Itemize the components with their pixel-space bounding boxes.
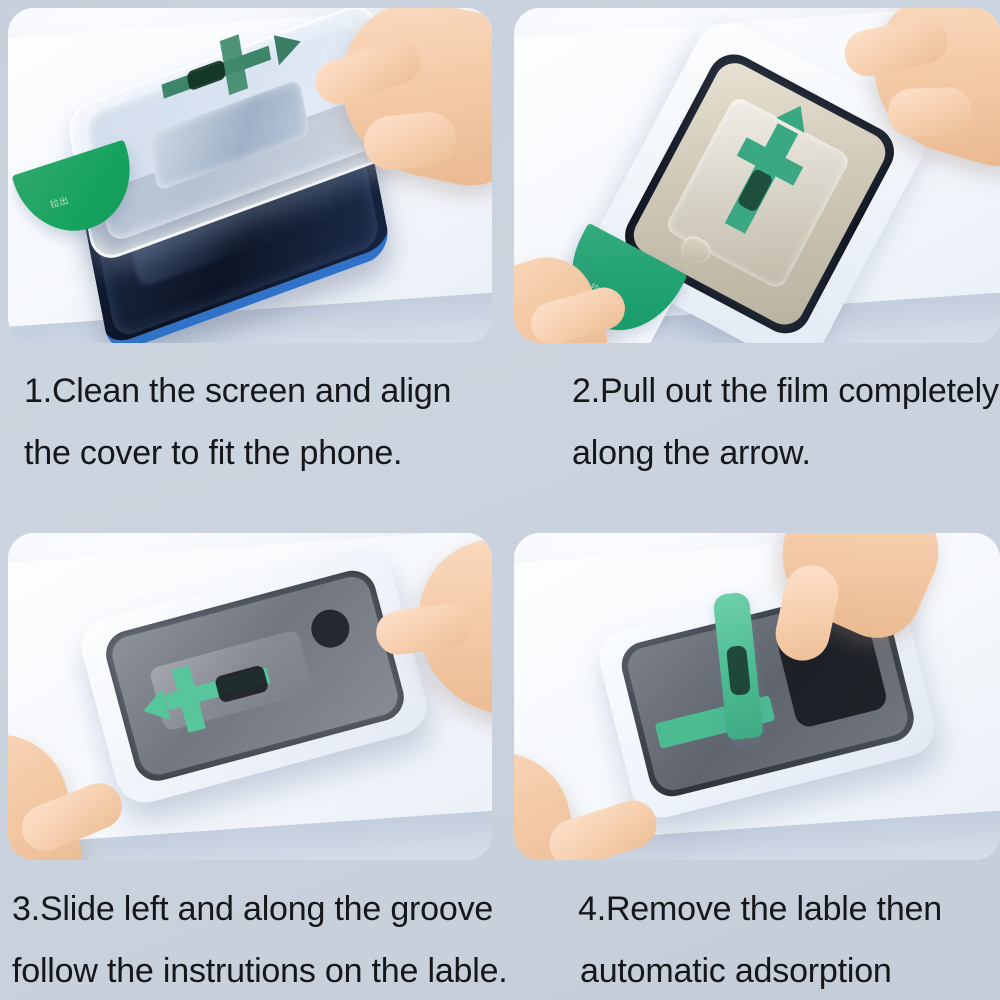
- step-3-caption: 3.Slide left and along the groove follow…: [8, 878, 496, 1000]
- step-4-scene: [514, 533, 1000, 860]
- caption-line: 2.Pull out the film completely: [572, 360, 1000, 422]
- step-1-scene: 拉出: [8, 8, 492, 343]
- instruction-step-4: 4.Remove the lable then automatic adsorp…: [514, 533, 1000, 1000]
- palm: [8, 720, 93, 860]
- caption-line: automatic adsorption: [578, 940, 1000, 1000]
- step-1-caption: 1.Clean the screen and align the cover t…: [8, 360, 508, 484]
- screen-dark-area: [773, 605, 889, 730]
- phone-device: [101, 565, 409, 786]
- applicator-tray: [75, 543, 433, 809]
- arrow-head-icon: [274, 26, 304, 65]
- phone-screen: [108, 573, 402, 779]
- step-4-photo: [514, 533, 1000, 860]
- step-4-caption: 4.Remove the lable then automatic adsorp…: [514, 878, 1000, 1000]
- phone-screen: [624, 590, 912, 795]
- pull-tab-label: 拉出: [588, 280, 610, 300]
- step-2-scene: 拉出: [514, 8, 1000, 343]
- green-arrow-film: [140, 641, 291, 743]
- arrow-chip: [726, 645, 751, 696]
- phone-device: [617, 582, 919, 801]
- instruction-step-3: 3.Slide left and along the groove follow…: [8, 533, 492, 1000]
- instruction-step-2: 拉出 2.Pull out the film completely along …: [514, 8, 1000, 508]
- step-3-scene: [8, 533, 492, 860]
- step-2-caption: 2.Pull out the film completely along the…: [514, 360, 1000, 484]
- pull-tab-label: 拉出: [49, 193, 71, 211]
- caption-line: follow the instrutions on the lable.: [12, 940, 496, 1000]
- instruction-step-1: 拉出 1.Clean the screen and align the cove…: [8, 8, 492, 508]
- caption-line: 3.Slide left and along the groove: [12, 878, 496, 940]
- arrow-chip: [214, 664, 269, 703]
- step-2-photo: 拉出: [514, 8, 1000, 343]
- thumb: [15, 776, 129, 858]
- step-1-photo: 拉出: [8, 8, 492, 343]
- step-3-photo: [8, 533, 492, 860]
- caption-line: the cover to fit the phone.: [24, 422, 508, 484]
- caption-line: 4.Remove the lable then: [578, 878, 1000, 940]
- applicator-tray: [593, 562, 940, 823]
- finger: [840, 14, 951, 81]
- camera-cutout: [307, 605, 354, 652]
- instruction-sheet: 拉出 1.Clean the screen and align the cove…: [0, 0, 1000, 1000]
- palm: [514, 740, 593, 860]
- arrow-chip: [186, 59, 226, 91]
- caption-line: 1.Clean the screen and align: [24, 360, 508, 422]
- caption-line: along the arrow.: [572, 422, 1000, 484]
